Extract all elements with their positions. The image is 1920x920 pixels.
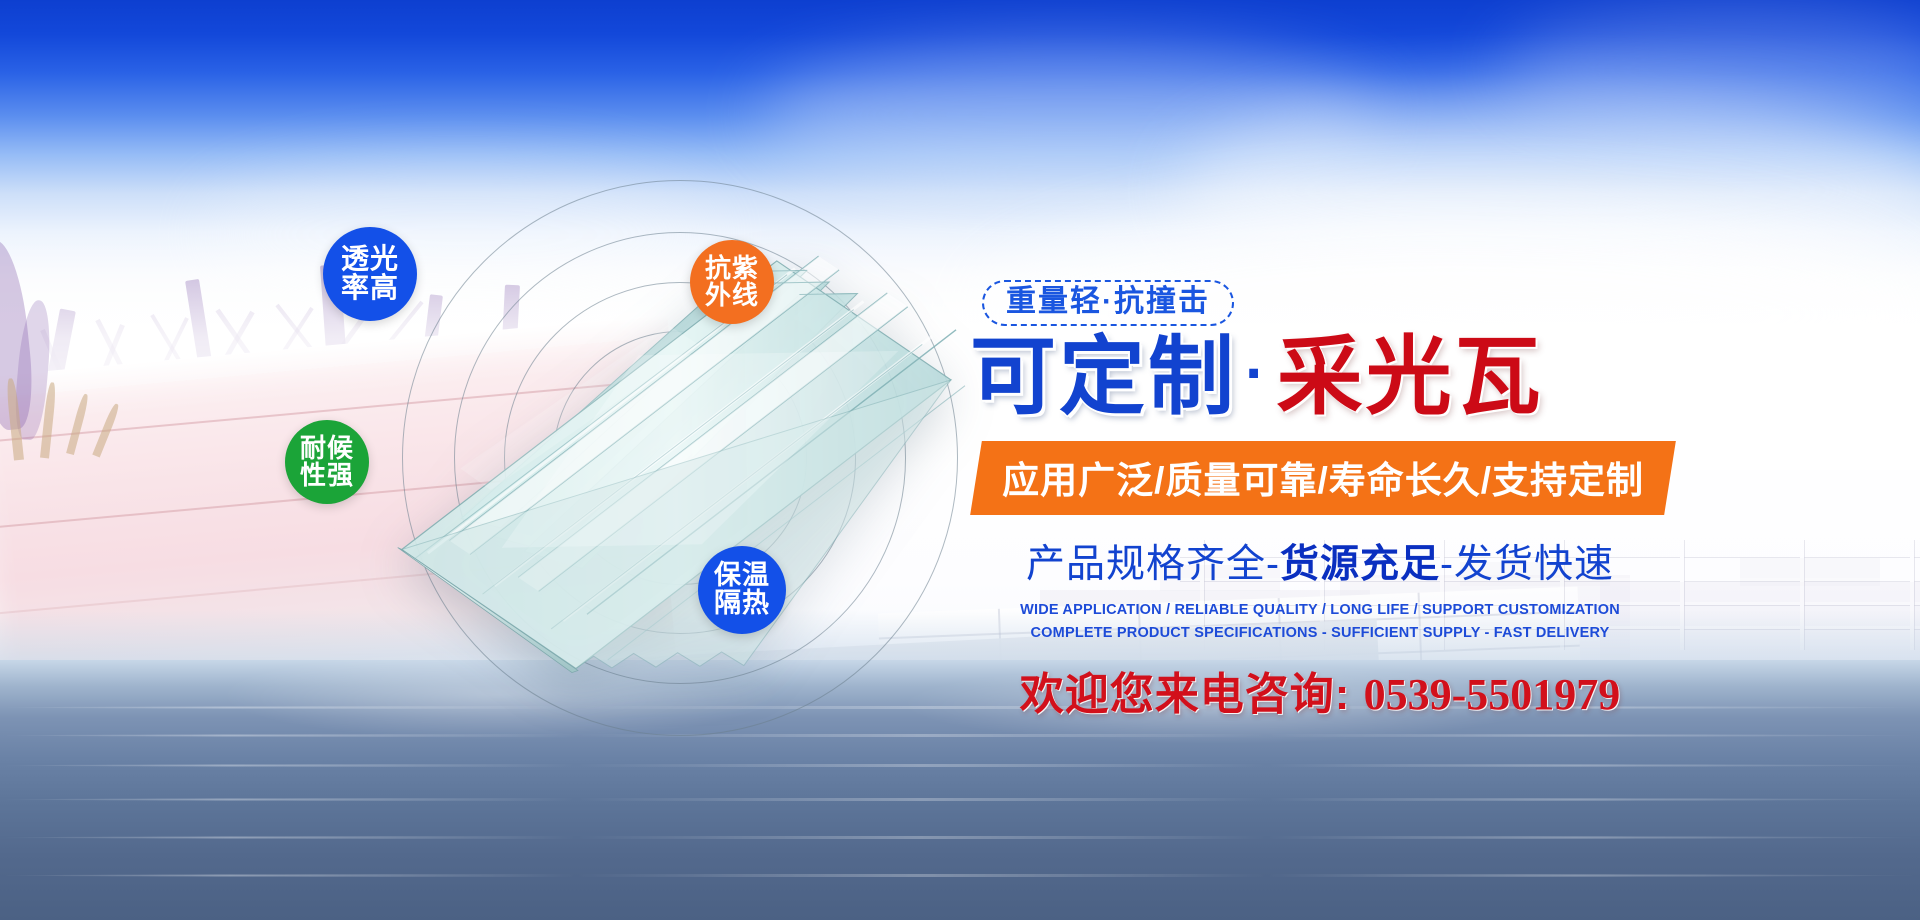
subline-suffix: -发货快速 [1440, 543, 1614, 586]
badge-line-1: 保温 [714, 562, 770, 590]
badge-thermal-insulation[interactable]: 保温 隔热 [698, 546, 786, 634]
english-line-1: WIDE APPLICATION / RELIABLE QUALITY / LO… [940, 599, 1700, 621]
badge-line-2: 外线 [705, 282, 759, 309]
badge-line-2: 性强 [300, 462, 354, 489]
corrugated-roofing-sheet [340, 215, 980, 675]
contact-phone[interactable]: 欢迎您来电咨询: 0539-5501979 [940, 658, 1700, 722]
page-title: 可定制·采光瓦 [970, 332, 1860, 423]
phone-label: 欢迎您来电咨询: [1020, 670, 1351, 719]
features-orange-bar-label: 应用广泛/质量可靠/寿命长久/支持定制 [1002, 450, 1644, 504]
badge-weather-resistance[interactable]: 耐候 性强 [285, 420, 369, 504]
headline-product: 采光瓦 [1277, 329, 1544, 425]
feature-pill: 重量轻·抗撞击 [982, 280, 1234, 326]
supply-subline: 产品规格齐全-货源充足-发货快速 [940, 533, 1700, 589]
phone-number: 0539-5501979 [1364, 670, 1621, 719]
badge-line-2: 隔热 [714, 590, 770, 618]
english-line-2: COMPLETE PRODUCT SPECIFICATIONS - SUFFIC… [940, 622, 1700, 644]
headline-customizable: 可定制 [970, 329, 1237, 425]
subline-strong: 货源充足 [1280, 543, 1440, 586]
badge-line-2: 率高 [341, 274, 399, 303]
english-tagline: WIDE APPLICATION / RELIABLE QUALITY / LO… [940, 599, 1700, 644]
promo-banner: 透光 率高 抗紫 外线 耐候 性强 保温 隔热 重量轻·抗撞击 可定制·采光瓦 … [0, 0, 1920, 920]
badge-anti-uv[interactable]: 抗紫 外线 [690, 240, 774, 324]
badge-line-1: 耐候 [300, 435, 354, 462]
badge-line-1: 抗紫 [705, 255, 759, 282]
badge-line-1: 透光 [341, 245, 399, 274]
roofing-sheet-illustration [340, 215, 980, 675]
subline-prefix: 产品规格齐全- [1026, 543, 1280, 586]
badge-light-transmittance[interactable]: 透光 率高 [323, 227, 417, 321]
features-orange-bar: 应用广泛/质量可靠/寿命长久/支持定制 [970, 441, 1676, 515]
marketing-copy-block: 重量轻·抗撞击 可定制·采光瓦 应用广泛/质量可靠/寿命长久/支持定制 产品规格… [960, 280, 1860, 722]
headline-separator: · [1237, 339, 1277, 408]
